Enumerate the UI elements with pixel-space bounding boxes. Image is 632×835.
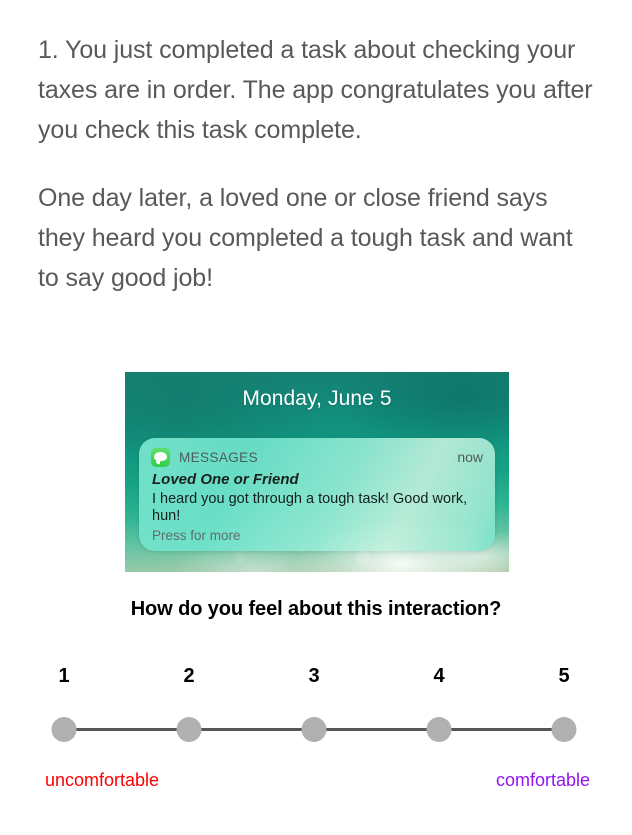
- notification-header: MESSAGES now: [151, 447, 483, 467]
- notification-press-hint: Press for more: [152, 528, 241, 543]
- notification-timestamp: now: [457, 449, 483, 465]
- messages-icon: [151, 448, 170, 467]
- scale-dot-4[interactable]: [427, 717, 452, 742]
- lockscreen-date: Monday, June 5: [125, 387, 509, 411]
- scale-number-labels: 12345: [40, 665, 588, 691]
- scale-dot-2[interactable]: [177, 717, 202, 742]
- notification-body-text: I heard you got through a tough task! Go…: [152, 491, 479, 525]
- likert-scale[interactable]: 12345: [40, 665, 588, 755]
- scale-number-1: 1: [58, 665, 69, 688]
- scale-number-3: 3: [308, 665, 319, 688]
- scenario-paragraph-1: 1. You just completed a task about check…: [38, 30, 598, 150]
- scenario-paragraph-2: One day later, a loved one or close frie…: [38, 178, 598, 298]
- survey-question: How do you feel about this interaction?: [0, 598, 632, 621]
- scale-number-4: 4: [433, 665, 444, 688]
- scale-anchor-high: comfortable: [496, 770, 590, 791]
- notification-card: MESSAGES now Loved One or Friend I heard…: [139, 438, 495, 551]
- scale-number-5: 5: [558, 665, 569, 688]
- notification-sender: Loved One or Friend: [152, 471, 299, 488]
- scenario-text: 1. You just completed a task about check…: [38, 30, 598, 298]
- notification-screenshot: Monday, June 5 MESSAGES now Loved One or…: [125, 372, 509, 572]
- scale-dot-1[interactable]: [52, 717, 77, 742]
- scale-anchor-low: uncomfortable: [45, 770, 159, 791]
- scale-number-2: 2: [183, 665, 194, 688]
- notification-app-name: MESSAGES: [179, 450, 258, 465]
- scale-dot-3[interactable]: [302, 717, 327, 742]
- scale-anchor-labels: uncomfortable comfortable: [40, 770, 592, 794]
- scale-dot-5[interactable]: [552, 717, 577, 742]
